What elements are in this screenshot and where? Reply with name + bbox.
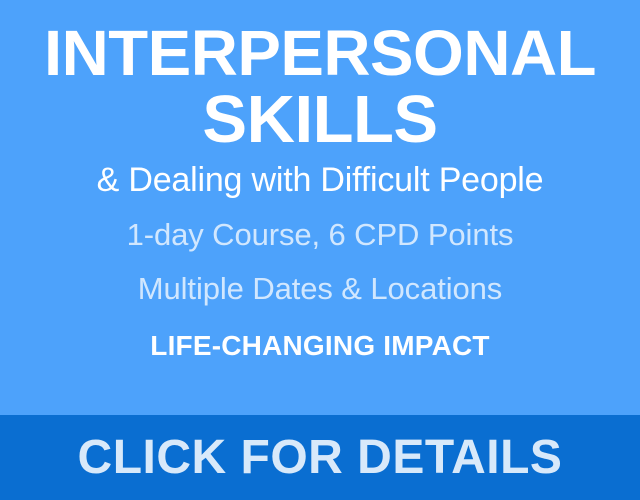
ad-content-area: INTERPERSONAL SKILLS & Dealing with Diff…: [0, 0, 640, 415]
dates-locations-detail: Multiple Dates & Locations: [0, 270, 640, 307]
impact-tagline: LIFE-CHANGING IMPACT: [0, 329, 640, 363]
cta-button-label: CLICK FOR DETAILS: [78, 434, 563, 482]
headline-line-1: INTERPERSONAL: [0, 22, 640, 85]
subheadline: & Dealing with Difficult People: [0, 160, 640, 200]
course-duration-detail: 1-day Course, 6 CPD Points: [0, 216, 640, 253]
advertisement-banner[interactable]: INTERPERSONAL SKILLS & Dealing with Diff…: [0, 0, 640, 500]
cta-button[interactable]: CLICK FOR DETAILS: [0, 415, 640, 500]
headline-line-2: SKILLS: [0, 87, 640, 153]
